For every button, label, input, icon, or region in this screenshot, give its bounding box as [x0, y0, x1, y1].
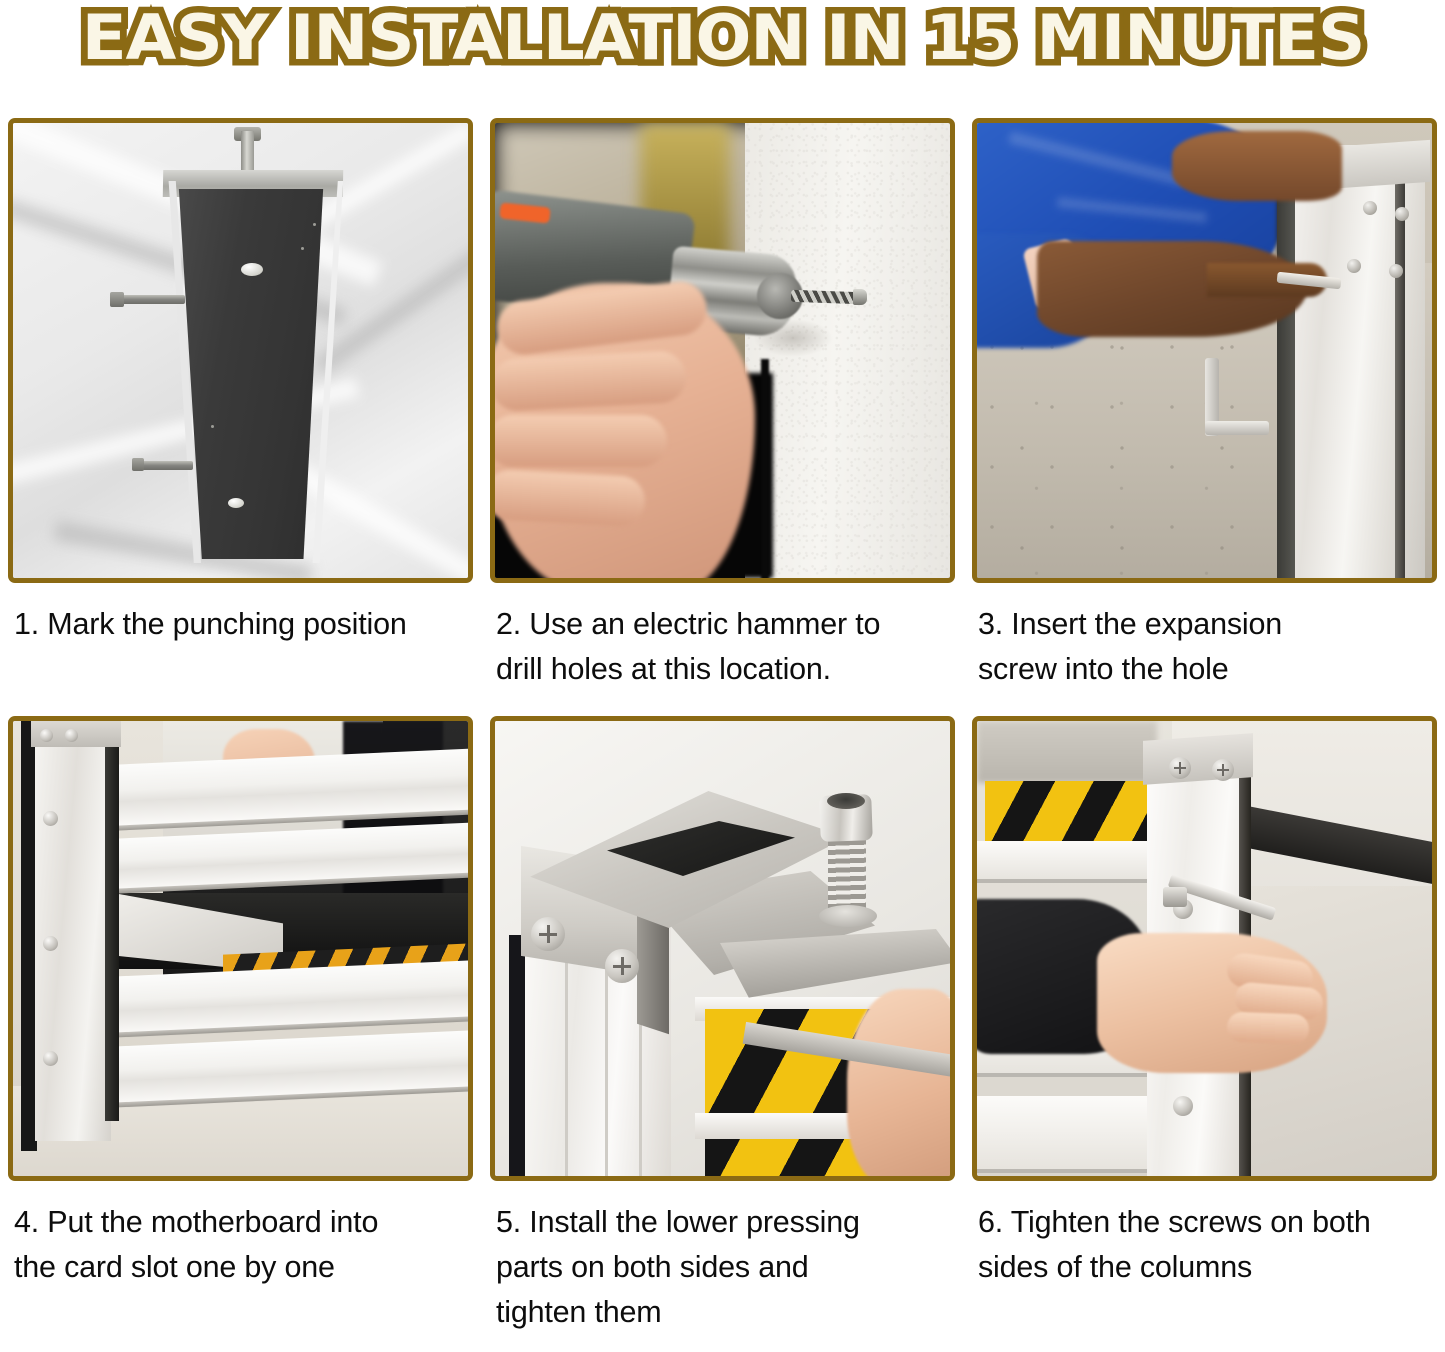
step-card-5: 5. Install the lower pressing parts on b…	[490, 716, 955, 1335]
thumb-screw-socket	[827, 793, 865, 809]
step-card-4: 4. Put the motherboard into the card slo…	[8, 716, 473, 1335]
speck	[301, 247, 304, 250]
board-groove	[977, 1169, 1157, 1173]
allen-key-short-arm	[1205, 421, 1269, 435]
finger	[495, 415, 667, 467]
drill-bit	[791, 290, 861, 304]
speck	[313, 223, 316, 226]
column-screw	[1389, 264, 1403, 278]
caption-line: parts on both sides and	[496, 1245, 951, 1290]
photo-put-motherboard-card-slot	[13, 721, 468, 1176]
upper-arm	[1172, 131, 1342, 201]
photo-frame-1	[8, 118, 473, 583]
page-title: EASY INSTALLATION IN 15 MINUTES	[81, 2, 1364, 74]
finger	[1227, 1012, 1310, 1045]
barrier-board	[977, 1096, 1157, 1171]
header-banner: EASY INSTALLATION IN 15 MINUTES	[0, 0, 1445, 86]
thumb-screw-base	[819, 905, 877, 927]
caption-line: 6. Tighten the screws on both	[978, 1200, 1433, 1245]
photo-frame-5	[490, 716, 955, 1181]
photo-frame-2	[490, 118, 955, 583]
marking-pin-upper-head	[110, 292, 124, 307]
caption-line: 5. Install the lower pressing	[496, 1200, 951, 1245]
step-caption-5: 5. Install the lower pressing parts on b…	[490, 1181, 955, 1335]
photo-mark-punching-position	[13, 123, 468, 578]
column-dark-edge	[509, 935, 525, 1176]
row-spacer	[8, 692, 1437, 716]
caption-line: 2. Use an electric hammer to	[496, 602, 951, 647]
mounting-hole-upper	[241, 263, 263, 276]
steps-grid: 1. Mark the punching position	[8, 118, 1437, 1335]
column-screw	[1347, 259, 1361, 273]
white-column	[35, 721, 111, 1141]
column-screw	[1212, 759, 1234, 781]
column-screw	[1169, 757, 1191, 779]
caption-line: 1. Mark the punching position	[14, 602, 469, 647]
finger	[495, 469, 646, 527]
photo-frame-3	[972, 118, 1437, 583]
thumb-screw-thread	[828, 837, 866, 913]
step-card-1: 1. Mark the punching position	[8, 118, 473, 692]
screwdriver-tip	[1163, 887, 1187, 907]
caption-line: screw into the hole	[978, 647, 1433, 692]
photo-insert-expansion-screw	[977, 123, 1432, 578]
photo-frame-4	[8, 716, 473, 1181]
phillips-screw	[605, 949, 639, 983]
finger	[495, 350, 687, 412]
phillips-screw	[531, 917, 565, 951]
step-card-2: 2. Use an electric hammer to drill holes…	[490, 118, 955, 692]
column-screw	[43, 811, 58, 826]
step-caption-1: 1. Mark the punching position	[8, 583, 473, 647]
drill-dust	[753, 319, 833, 357]
column-screw	[1363, 201, 1377, 215]
board-groove	[977, 879, 1167, 883]
background-blur	[977, 721, 1157, 783]
wall-edge	[761, 359, 769, 578]
photo-install-lower-pressing-parts	[495, 721, 950, 1176]
speck	[211, 425, 214, 428]
caption-line: 4. Put the motherboard into	[14, 1200, 469, 1245]
top-bolt	[241, 131, 254, 171]
step-card-6: 6. Tighten the screws on both sides of t…	[972, 716, 1437, 1335]
step-caption-6: 6. Tighten the screws on both sides of t…	[972, 1181, 1437, 1290]
step-card-3: 3. Insert the expansion screw into the h…	[972, 118, 1437, 692]
column-screw	[1395, 207, 1409, 221]
caption-line: tighten them	[496, 1290, 951, 1335]
photo-tighten-screws-columns	[977, 721, 1432, 1176]
board-groove	[977, 1073, 1157, 1077]
card-slot-shadow	[105, 721, 119, 1121]
caption-line: the card slot one by one	[14, 1245, 469, 1290]
column-top-plate	[1143, 733, 1253, 785]
column-screw	[43, 1051, 58, 1066]
caption-line: sides of the columns	[978, 1245, 1433, 1290]
caption-line: 3. Insert the expansion	[978, 602, 1433, 647]
hand	[847, 989, 950, 1176]
mounting-hole-lower	[228, 498, 244, 508]
column-screw	[65, 729, 78, 742]
photo-drill-holes	[495, 123, 950, 578]
column-screw	[40, 729, 53, 742]
column-screw	[43, 936, 58, 951]
step-caption-2: 2. Use an electric hammer to drill holes…	[490, 583, 955, 692]
column-screw	[1173, 1096, 1193, 1116]
hazard-stripe-tape	[985, 781, 1155, 843]
marking-pin-lower-head	[132, 458, 144, 471]
drill-bit-tip	[853, 289, 867, 305]
step-caption-3: 3. Insert the expansion screw into the h…	[972, 583, 1437, 692]
barrier-board	[977, 841, 1167, 881]
step-caption-4: 4. Put the motherboard into the card slo…	[8, 1181, 473, 1290]
photo-frame-6	[972, 716, 1437, 1181]
caption-line: drill holes at this location.	[496, 647, 951, 692]
